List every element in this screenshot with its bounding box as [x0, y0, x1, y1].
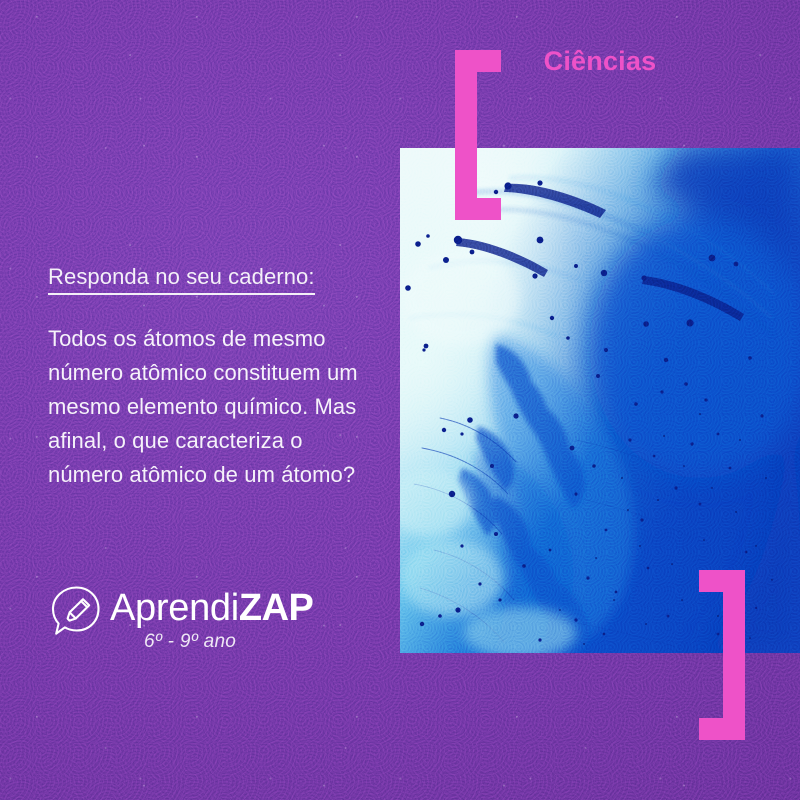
logo-word-bold: ZAP [239, 587, 314, 629]
speech-bubble-pencil-icon [48, 583, 104, 639]
subject-label: Ciências [480, 46, 720, 77]
logo-word-light: Aprendi [110, 587, 239, 629]
logo-wordmark: AprendiZAP [110, 586, 313, 630]
aprendizap-logo: AprendiZAP 6º - 9º ano [48, 583, 348, 663]
logo-subtitle: 6º - 9º ano [144, 631, 236, 653]
prompt-heading: Responda no seu caderno: [48, 264, 315, 295]
poster-canvas: Ciências Responda no seu caderno: Todos … [0, 0, 800, 800]
question-text: Todos os átomos de mesmo número atômico … [48, 322, 378, 492]
bracket-bottom-right-decoration [699, 570, 745, 740]
